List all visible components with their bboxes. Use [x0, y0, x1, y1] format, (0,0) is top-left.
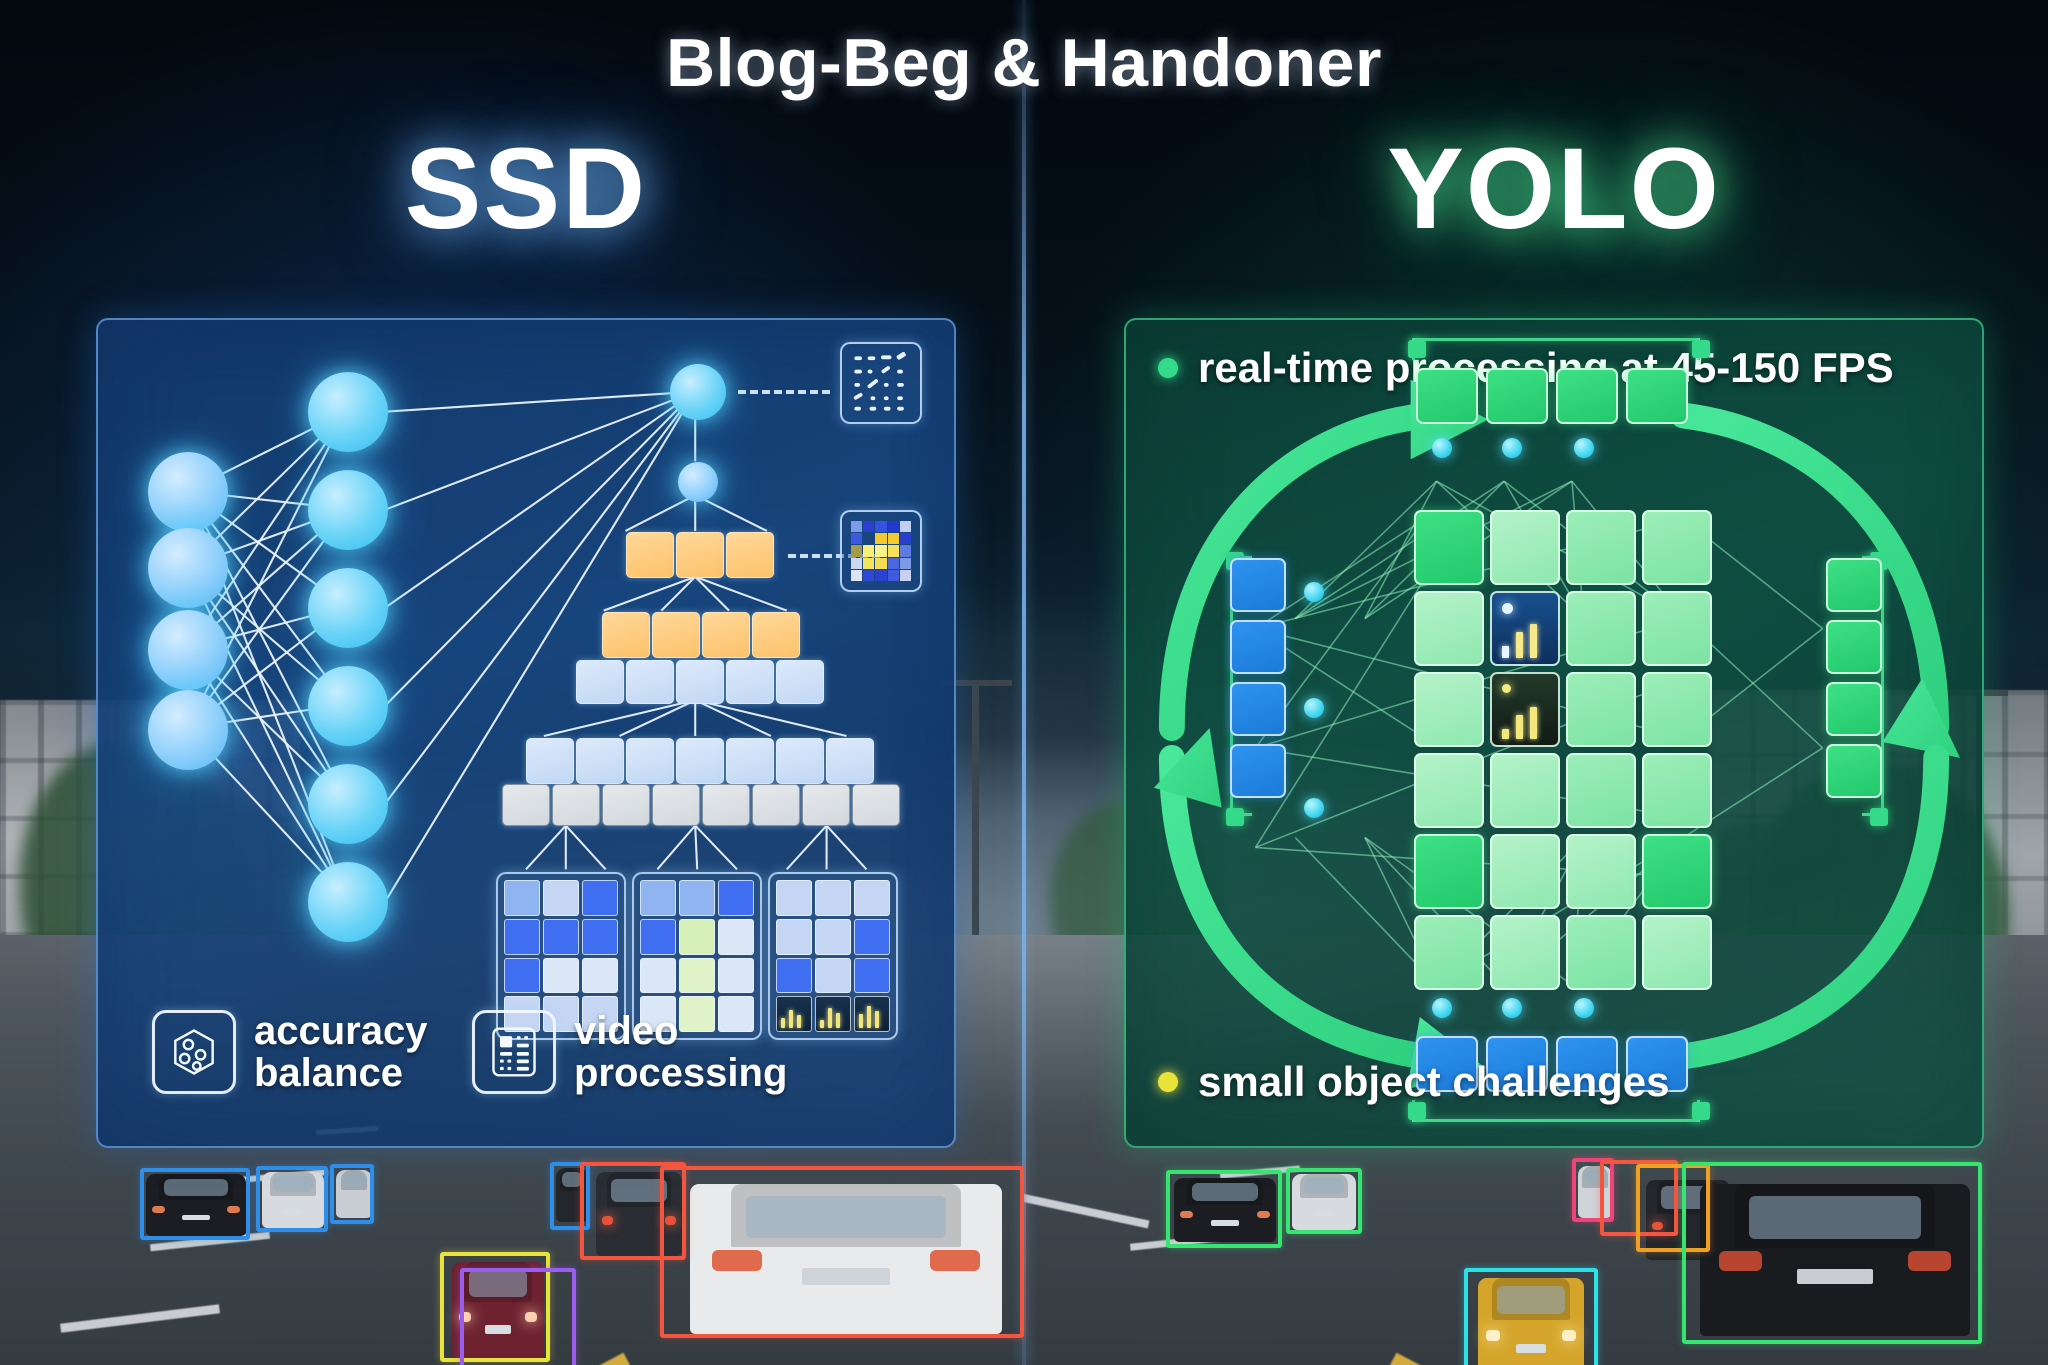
input-node	[148, 610, 228, 690]
detection-box	[1682, 1162, 1982, 1344]
anchor-grid-icon	[840, 342, 922, 424]
badge-label: accuracy balance	[254, 1010, 427, 1095]
bracket-handle	[1870, 808, 1888, 826]
apex-node	[670, 364, 726, 420]
detection-box	[1464, 1268, 1598, 1365]
input-node	[148, 452, 228, 532]
badge-label-line2: processing	[574, 1052, 787, 1094]
detection-box	[1286, 1168, 1362, 1234]
bullet-dot-icon	[1158, 1072, 1178, 1092]
detection-box	[660, 1166, 1024, 1338]
document-list-icon	[472, 1010, 556, 1094]
brand-ssd: SSD	[96, 132, 956, 247]
pyramid-row-1	[626, 532, 774, 578]
connection-dot	[1574, 998, 1594, 1018]
page-title: Blog-Beg & Handoner	[0, 24, 2048, 102]
bracket-handle	[1692, 1102, 1710, 1120]
badge-label: video processing	[574, 1010, 787, 1095]
highlighted-cell	[1490, 672, 1560, 747]
bracket-handle	[1226, 808, 1244, 826]
badge-accuracy-balance[interactable]: accuracy balance	[152, 1010, 427, 1095]
bracket-handle	[1692, 340, 1710, 358]
poster-canvas: Blog-Beg & Handoner SSD YOLO	[0, 0, 2048, 1365]
detection-box	[256, 1166, 328, 1232]
yolo-center-grid	[1414, 510, 1712, 990]
detection-box	[330, 1164, 374, 1224]
pyramid-row-2	[602, 612, 800, 658]
highlighted-cell	[1490, 591, 1560, 666]
pyramid-row-4	[526, 738, 874, 784]
input-node	[148, 528, 228, 608]
connection-dot	[1304, 698, 1324, 718]
connection-dot	[1304, 582, 1324, 602]
connection-dot	[1502, 998, 1522, 1018]
feature-map	[768, 872, 898, 1040]
hidden-node	[308, 372, 388, 452]
heatmap-icon	[840, 510, 922, 592]
connection-dot	[1432, 998, 1452, 1018]
pyramid-row-5	[502, 784, 900, 826]
yolo-top-cells	[1416, 368, 1688, 424]
selection-bracket-top	[1412, 338, 1700, 366]
apex-sub-node	[678, 462, 718, 502]
yolo-bullet-text: small object challenges	[1198, 1058, 1670, 1106]
pyramid-row-3	[576, 660, 824, 704]
connection-dot	[1574, 438, 1594, 458]
leader-line	[738, 390, 830, 394]
detection-box	[460, 1268, 576, 1365]
badge-video-processing[interactable]: video processing	[472, 1010, 787, 1095]
yolo-bullet-2: small object challenges	[1158, 1058, 1670, 1106]
panel-divider	[1022, 0, 1026, 1365]
yolo-left-cells	[1230, 558, 1286, 798]
yolo-panel[interactable]: real-time processing at 45-150 FPS	[1124, 318, 1984, 1148]
detection-box	[140, 1168, 250, 1240]
connection-dot	[1432, 438, 1452, 458]
hidden-node	[308, 764, 388, 844]
molecule-nodes-icon	[152, 1010, 236, 1094]
hidden-node	[308, 568, 388, 648]
hidden-node	[308, 470, 388, 550]
badge-label-line1: video	[574, 1010, 787, 1052]
bracket-handle	[1408, 340, 1426, 358]
connection-dot	[1304, 798, 1324, 818]
detection-box	[1166, 1170, 1282, 1248]
hidden-node	[308, 666, 388, 746]
input-node	[148, 690, 228, 770]
hidden-node	[308, 862, 388, 942]
badge-label-line2: balance	[254, 1052, 427, 1094]
ssd-panel[interactable]: accuracy balance	[96, 318, 956, 1148]
yolo-right-cells	[1826, 558, 1882, 798]
connection-dot	[1502, 438, 1522, 458]
badge-label-line1: accuracy	[254, 1010, 427, 1052]
brand-yolo: YOLO	[1124, 132, 1984, 247]
